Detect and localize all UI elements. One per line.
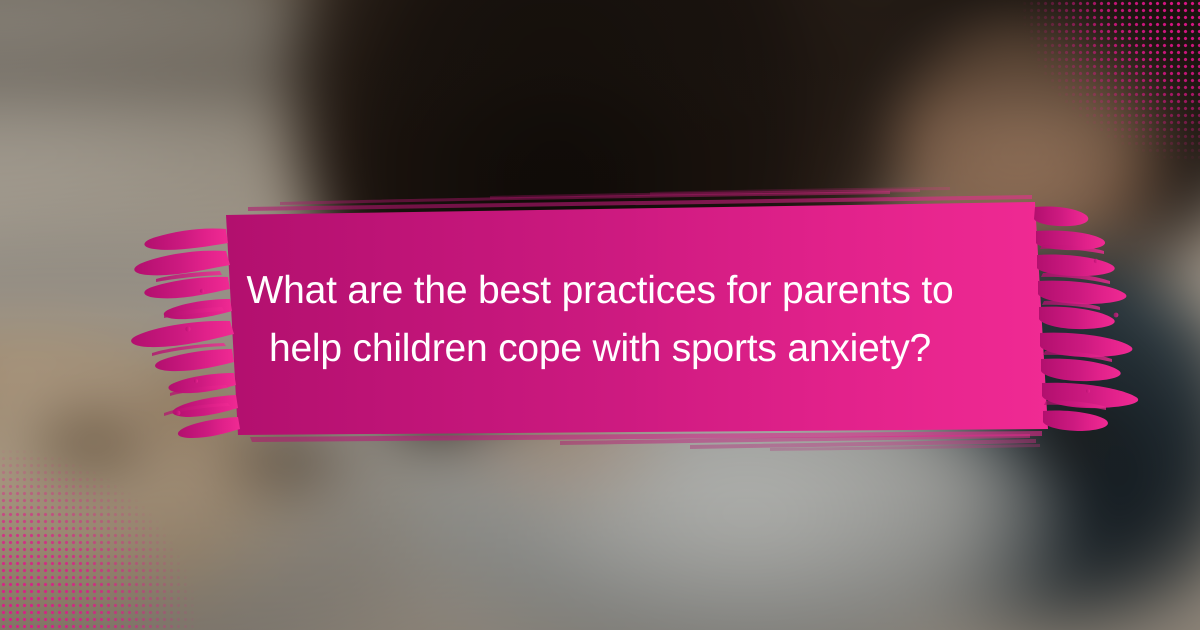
page-title: What are the best practices for parents … [170, 262, 1030, 378]
share-card: What are the best practices for parents … [0, 0, 1200, 630]
